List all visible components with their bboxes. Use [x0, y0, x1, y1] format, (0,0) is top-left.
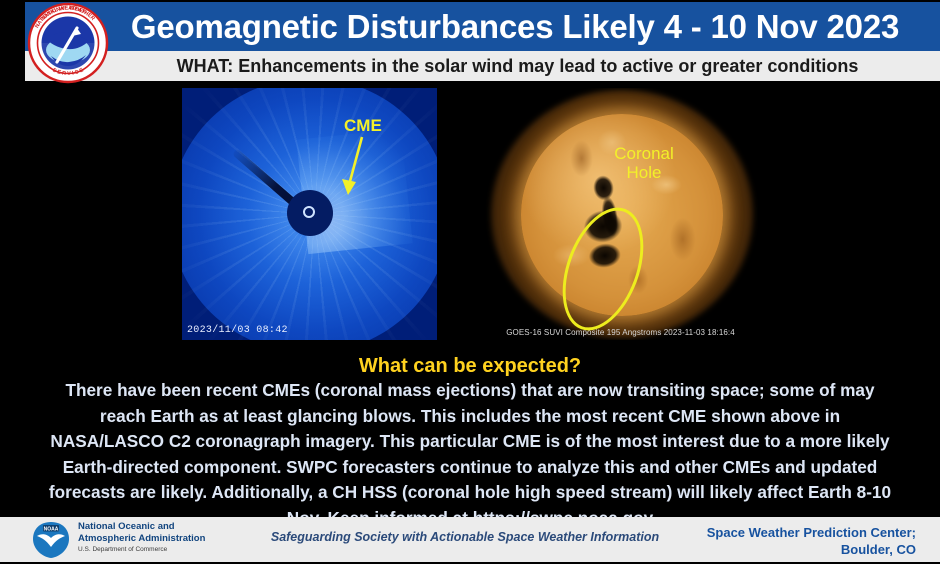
noaa-wordmark: NOAA [44, 526, 59, 532]
lasco-timestamp: 2023/11/03 08:42 [187, 325, 288, 336]
page-title: Geomagnetic Disturbances Likely 4 - 10 N… [100, 2, 930, 51]
occulting-disc [287, 190, 333, 236]
noaa-agency-line-2: Atmospheric Administration [78, 533, 205, 545]
page-subtitle: WHAT: Enhancements in the solar wind may… [100, 51, 935, 81]
suvi-caption: GOES-16 SUVI Composite 195 Angstroms 202… [483, 328, 758, 337]
swpc-center-location: Boulder, CO [707, 541, 916, 558]
cme-label: CME [344, 116, 382, 136]
noaa-agency-line-1: National Oceanic and [78, 521, 205, 533]
infographic-page: Geomagnetic Disturbances Likely 4 - 10 N… [0, 0, 940, 562]
noaa-seagull-logo-icon: NOAA [32, 521, 70, 559]
noaa-department-line: U.S. Department of Commerce [78, 545, 205, 555]
coronal-hole-label-line2: Hole [589, 163, 699, 182]
suvi-solar-image: Coronal Hole GOES-16 SUVI Composite 195 … [483, 88, 758, 340]
coronal-hole-label: Coronal Hole [589, 144, 699, 182]
swpc-attribution: Space Weather Prediction Center; Boulder… [707, 524, 916, 558]
footer-tagline: Safeguarding Society with Actionable Spa… [255, 530, 675, 544]
national-weather-service-seal-icon: NATIONAL WEATHER NATIONAL WEATHER · S E … [25, 0, 111, 86]
section-title: What can be expected? [0, 355, 940, 378]
forecast-body-text: There have been recent CMEs (coronal mas… [48, 378, 892, 531]
lasco-coronagraph-image: CME 2023/11/03 08:42 [182, 88, 437, 340]
noaa-agency-name: National Oceanic and Atmospheric Adminis… [78, 521, 205, 555]
coronal-hole-label-line1: Coronal [589, 144, 699, 163]
swpc-center-name: Space Weather Prediction Center; [707, 524, 916, 541]
cme-arrow-icon [332, 133, 382, 203]
